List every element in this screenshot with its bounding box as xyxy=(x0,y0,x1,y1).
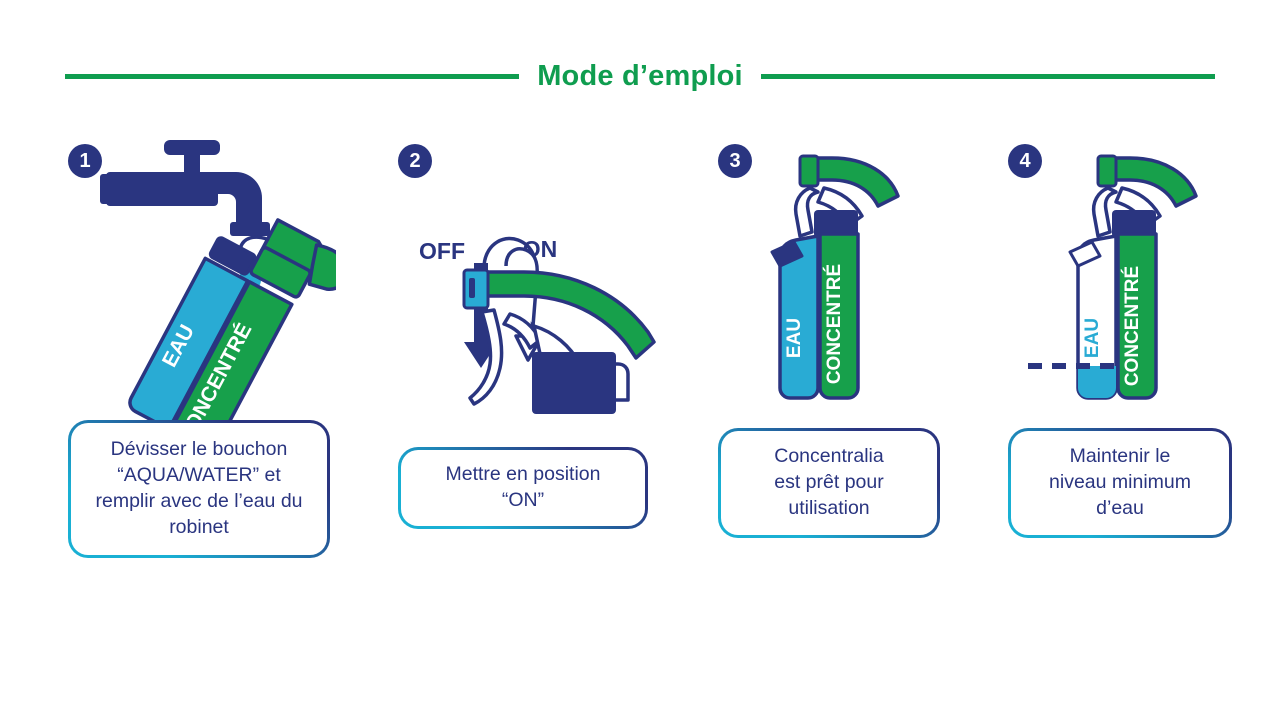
step-2-caption: Mettre en position “ON” xyxy=(398,447,648,529)
bottle-label-water: EAU xyxy=(784,318,805,358)
caption-line: d’eau xyxy=(1049,496,1191,522)
caption-line: “AQUA/WATER” et xyxy=(95,463,302,489)
caption-line: Concentralia xyxy=(774,444,883,470)
caption-line: “ON” xyxy=(445,488,600,514)
caption-line: Dévisser le bouchon xyxy=(95,437,302,463)
upright-spray-bottle-minimum-water-level-icon: EAU CONCENTRÉ xyxy=(1004,130,1236,420)
bottle-neck-block xyxy=(532,352,616,414)
caption-line: est prêt pour xyxy=(774,470,883,496)
upright-spray-bottle-full-icon: EAU CONCENTRÉ xyxy=(714,130,946,420)
caption-line: robinet xyxy=(95,515,302,541)
step-1-caption: Dévisser le bouchon “AQUA/WATER” et remp… xyxy=(68,420,330,558)
spray-nozzle-rotate-off-to-on-icon: OFF ON xyxy=(394,130,656,420)
step-4-caption: Maintenir le niveau minimum d’eau xyxy=(1008,428,1232,538)
instructions-diagram: Mode d’emploi 1 xyxy=(0,0,1280,720)
caption-line: remplir avec de l’eau du xyxy=(95,489,302,515)
title-rule-right xyxy=(761,74,1215,79)
caption-line: Maintenir le xyxy=(1049,444,1191,470)
page-title: Mode d’emploi xyxy=(537,60,743,93)
caption-line: niveau minimum xyxy=(1049,470,1191,496)
title-rule-left xyxy=(65,74,519,79)
bottle-label-concentrate: CONCENTRÉ xyxy=(1121,266,1143,386)
title-row: Mode d’emploi xyxy=(65,56,1215,96)
caption-line: Mettre en position xyxy=(445,462,600,488)
step-3-caption: Concentralia est prêt pour utilisation xyxy=(718,428,940,538)
bottle-label-concentrate: CONCENTRÉ xyxy=(823,264,845,384)
caption-line: utilisation xyxy=(774,496,883,522)
switch-label-off: OFF xyxy=(419,238,465,264)
bottle-label-water: EAU xyxy=(1082,318,1103,358)
faucet-dripping-into-tilted-spray-bottle-icon: EAU CONCENTRÉ xyxy=(64,130,336,420)
